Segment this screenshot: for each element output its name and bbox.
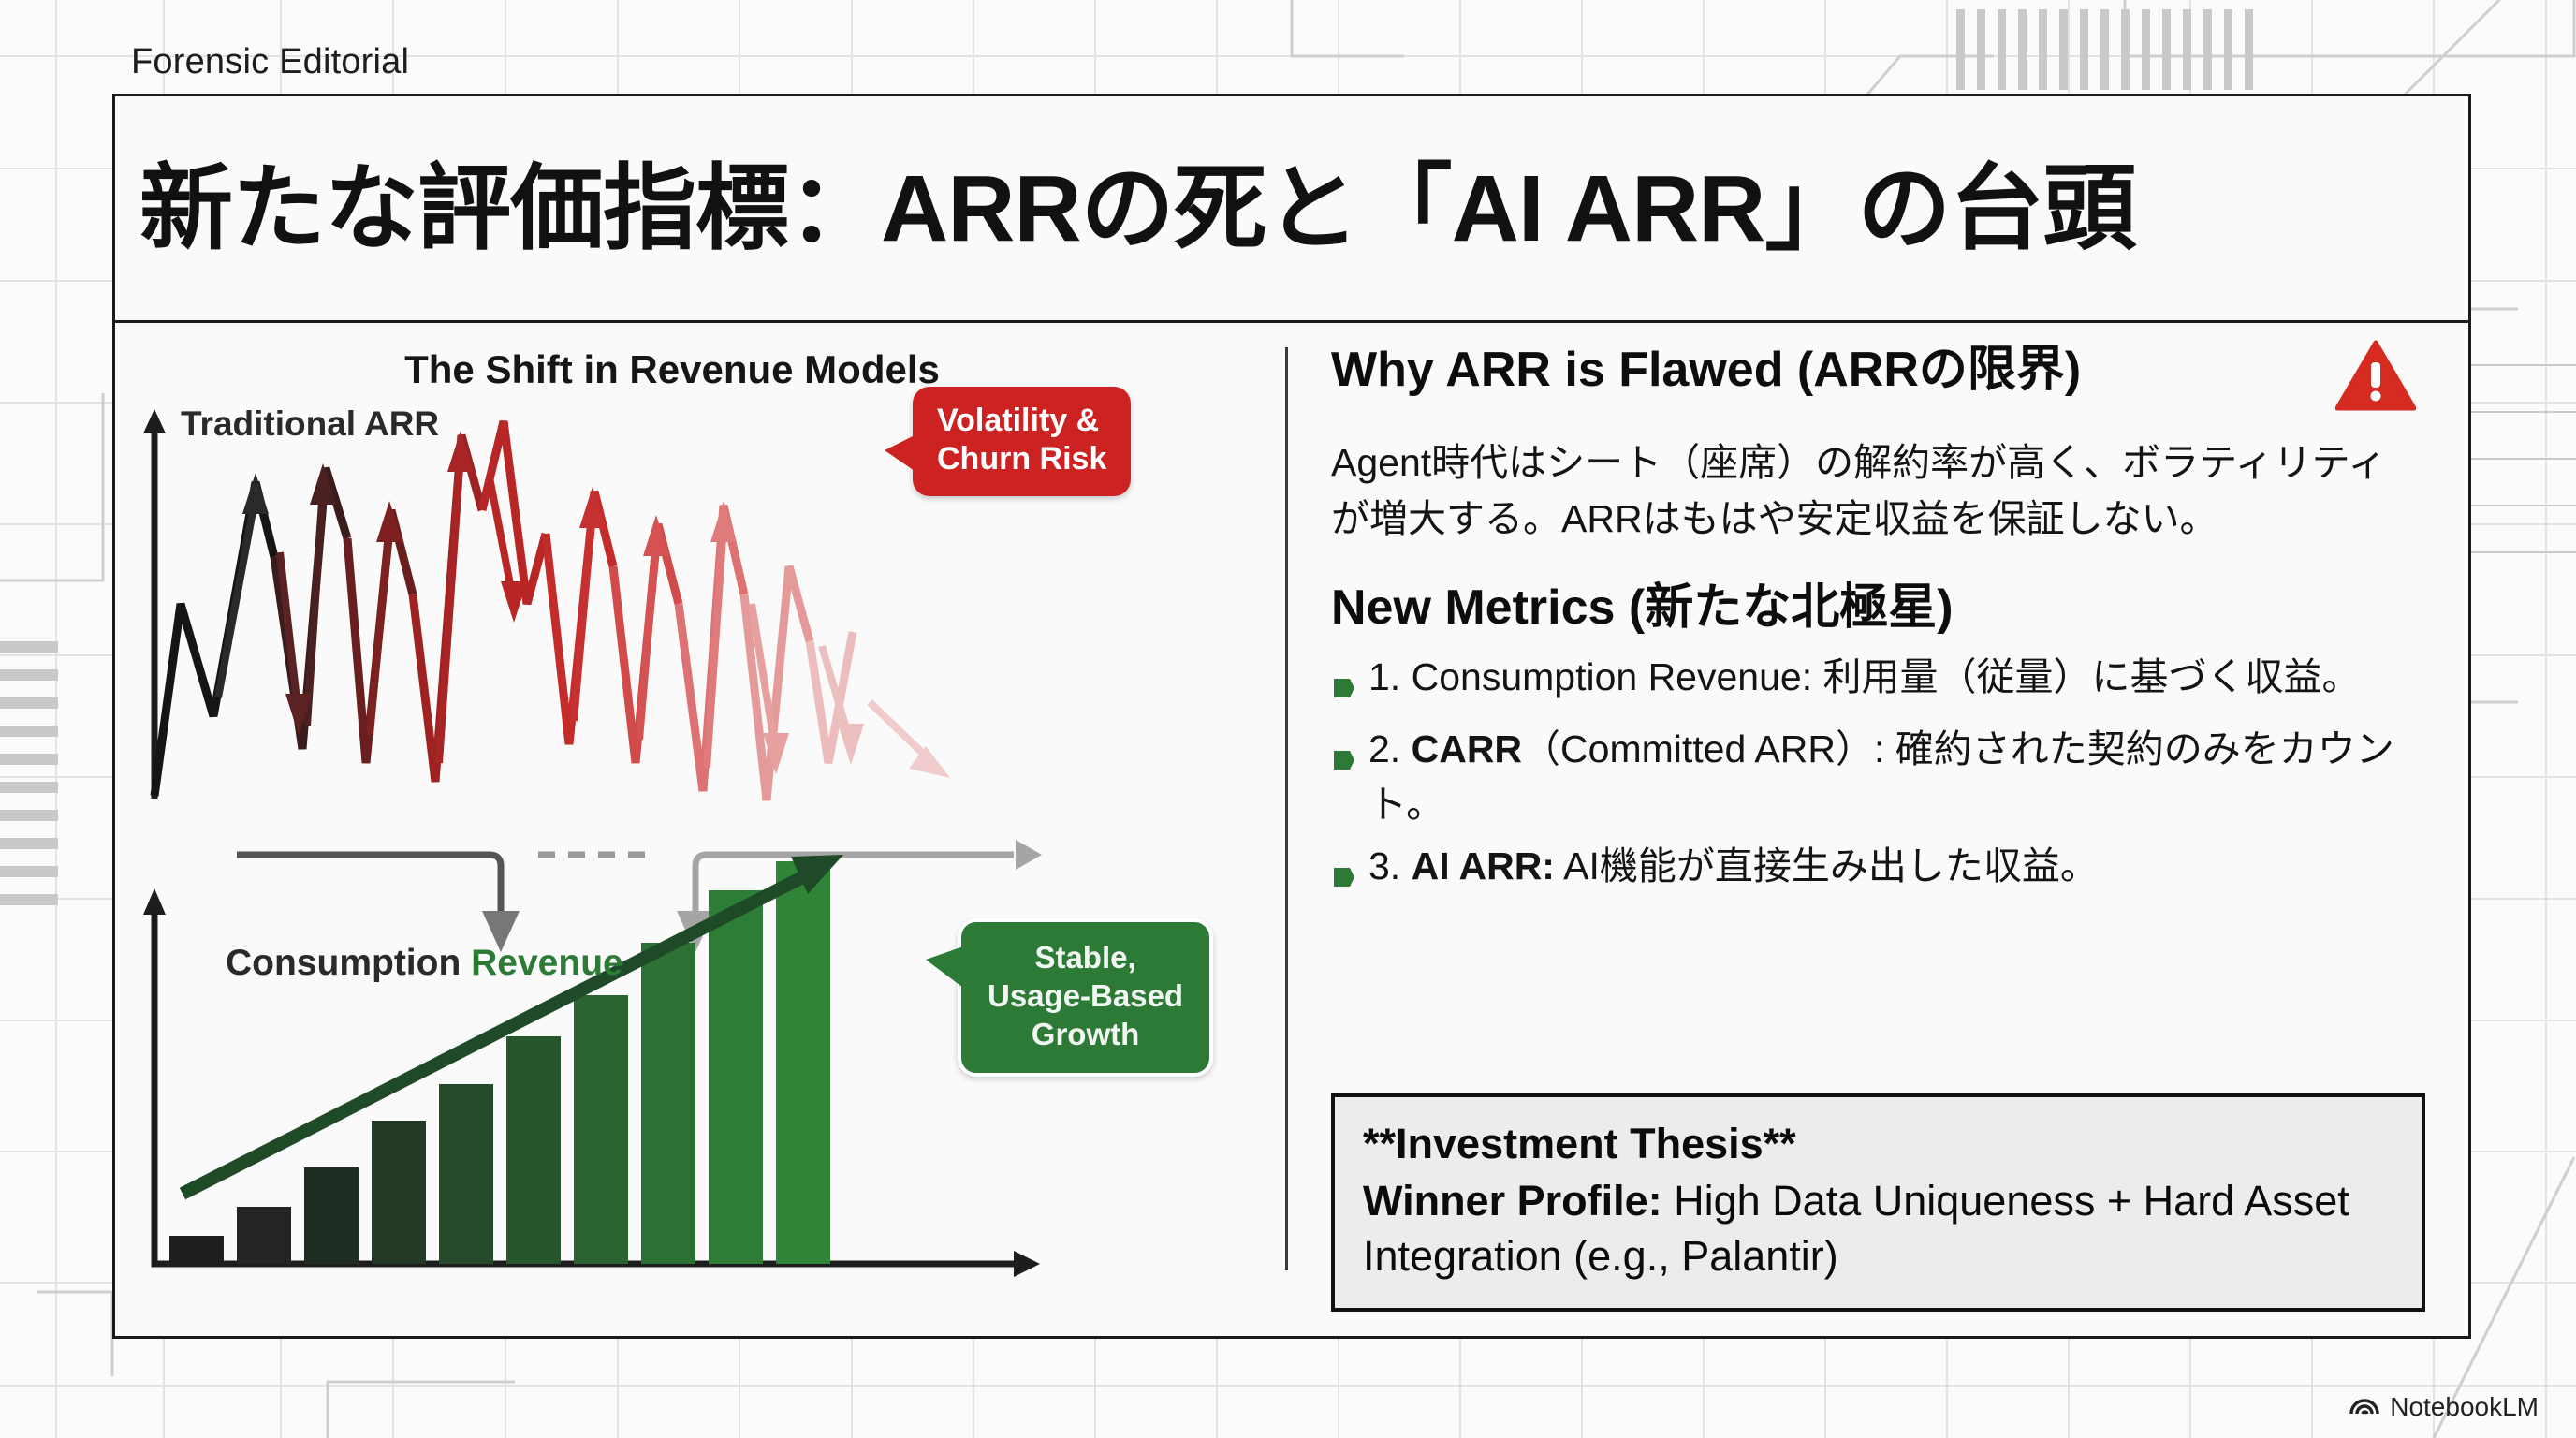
- arrow-bullet-icon: [1331, 660, 1355, 714]
- callout-green-tail: [926, 946, 963, 988]
- chart-pane: The Shift in Revenue Models: [115, 323, 1285, 1336]
- arrow-bullet-icon: [1331, 849, 1355, 903]
- callout-red-line1: Volatility &: [937, 402, 1106, 440]
- callout-stable-usage-growth: Stable, Usage-Based Growth: [958, 918, 1213, 1077]
- callout-red-line2: Churn Risk: [937, 440, 1106, 478]
- thesis-bold: Winner Profile:: [1363, 1177, 1662, 1225]
- metric-num: 1.: [1368, 655, 1400, 698]
- page-title: 新たな評価指標：ARRの死と「AI ARR」の台頭: [115, 162, 2135, 256]
- flawed-heading-row: Why ARR is Flawed (ARRの限界): [1331, 344, 2416, 422]
- callout-volatility-churn-risk: Volatility & Churn Risk: [913, 387, 1131, 496]
- investment-thesis-box: **Investment Thesis** Winner Profile: Hi…: [1331, 1093, 2425, 1312]
- kicker-label: Forensic Editorial: [131, 42, 409, 82]
- metrics-list: 1. Consumption Revenue: 利用量（従量）に基づく収益。 2…: [1331, 650, 2416, 903]
- metric-body: Consumption Revenue: 利用量（従量）に基づく収益。: [1412, 655, 2361, 698]
- metric-bold: AI ARR:: [1412, 844, 1555, 888]
- metric-num: 3.: [1368, 844, 1400, 888]
- arrow-bullet-icon: [1331, 732, 1355, 786]
- thesis-title: **Investment Thesis**: [1363, 1118, 2393, 1170]
- metric-body: AI機能が直接生み出した収益。: [1555, 844, 2099, 888]
- traditional-arr-label: Traditional ARR: [181, 404, 439, 443]
- callout-green-line3: Growth: [988, 1016, 1183, 1054]
- callout-red-tail: [885, 435, 915, 471]
- callout-green-line1: Stable,: [988, 939, 1183, 977]
- metric-text: 2. CARR（Committed ARR）: 確約された契約のみをカウント。: [1368, 722, 2416, 830]
- title-bar: 新たな評価指標：ARRの死と「AI ARR」の台頭: [115, 96, 2468, 323]
- callout-green-line2: Usage-Based: [988, 977, 1183, 1016]
- metric-body: （Committed ARR）: 確約された契約のみをカウント。: [1368, 727, 2394, 825]
- flawed-body: Agent時代はシート（座席）の解約率が高く、ボラティリティが増大する。ARRは…: [1331, 435, 2416, 548]
- notebooklm-logo-icon: [2349, 1390, 2380, 1423]
- metric-bold: CARR: [1412, 727, 1522, 770]
- metric-num: 2.: [1368, 727, 1400, 770]
- metric-text: 3. AI ARR: AI機能が直接生み出した収益。: [1368, 839, 2099, 893]
- slide-card: 新たな評価指標：ARRの死と「AI ARR」の台頭 The Shift in R…: [112, 94, 2471, 1339]
- list-item: 2. CARR（Committed ARR）: 確約された契約のみをカウント。: [1331, 722, 2416, 830]
- consumption-revenue-label: Consumption Revenue: [226, 943, 623, 984]
- warning-triangle-icon: [2335, 340, 2416, 422]
- analysis-pane: Why ARR is Flawed (ARRの限界) Agent時代はシート（座…: [1288, 323, 2468, 1336]
- revenue-word: Revenue: [471, 943, 623, 983]
- metrics-heading: New Metrics (新たな北極星): [1331, 581, 1954, 635]
- thesis-body: Winner Profile: High Data Uniqueness + H…: [1363, 1174, 2393, 1284]
- metrics-heading-row: New Metrics (新たな北極星): [1331, 581, 2416, 635]
- consumption-word: Consumption: [226, 943, 461, 983]
- list-item: 1. Consumption Revenue: 利用量（従量）に基づく収益。: [1331, 650, 2416, 714]
- metric-text: 1. Consumption Revenue: 利用量（従量）に基づく収益。: [1368, 650, 2360, 704]
- slide-body: The Shift in Revenue Models: [115, 323, 2468, 1336]
- footer-brand: NotebookLM: [2349, 1390, 2539, 1423]
- list-item: 3. AI ARR: AI機能が直接生み出した収益。: [1331, 839, 2416, 903]
- flawed-heading: Why ARR is Flawed (ARRの限界): [1331, 344, 2081, 397]
- footer-brand-label: NotebookLM: [2390, 1392, 2539, 1422]
